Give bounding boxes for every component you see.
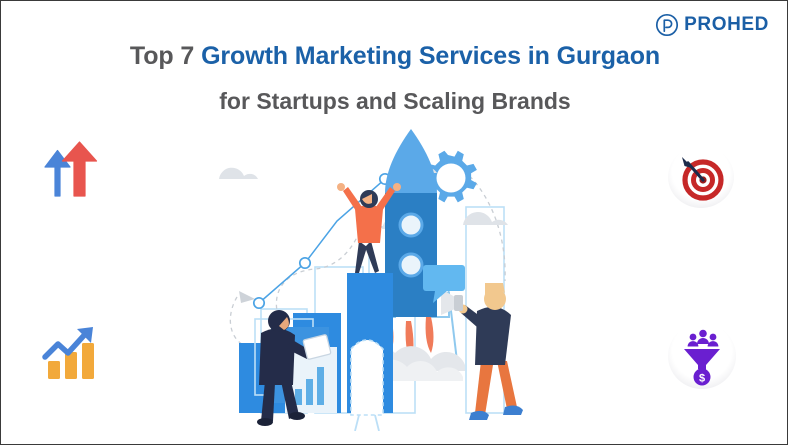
target-dart-icon — [665, 143, 737, 211]
flag-banner — [351, 340, 383, 431]
headline-line-1: Top 7 Growth Marketing Services in Gurga… — [1, 39, 788, 73]
brand-logo[interactable]: PROHED — [655, 13, 769, 37]
dashed-path-arrow — [239, 291, 255, 303]
svg-text:$: $ — [699, 372, 705, 384]
startup-rocket-launch-scene — [219, 121, 569, 431]
promo-banner: PROHED Top 7 Growth Marketing Services i… — [0, 0, 788, 445]
headline-prefix: Top 7 — [130, 42, 194, 70]
headline-block: Top 7 Growth Marketing Services in Gurga… — [1, 39, 788, 117]
headline-highlight: Growth Marketing Services in Gurgaon — [201, 42, 660, 70]
prohed-p-circle-icon — [655, 13, 679, 37]
brand-name: PROHED — [684, 14, 769, 36]
sales-funnel-icon: $ — [665, 319, 739, 393]
bar-chart-growth-icon — [41, 323, 103, 381]
person-with-megaphone — [441, 283, 523, 420]
headline-line-2: for Startups and Scaling Brands — [1, 85, 788, 117]
two-up-arrows-icon — [39, 141, 101, 197]
